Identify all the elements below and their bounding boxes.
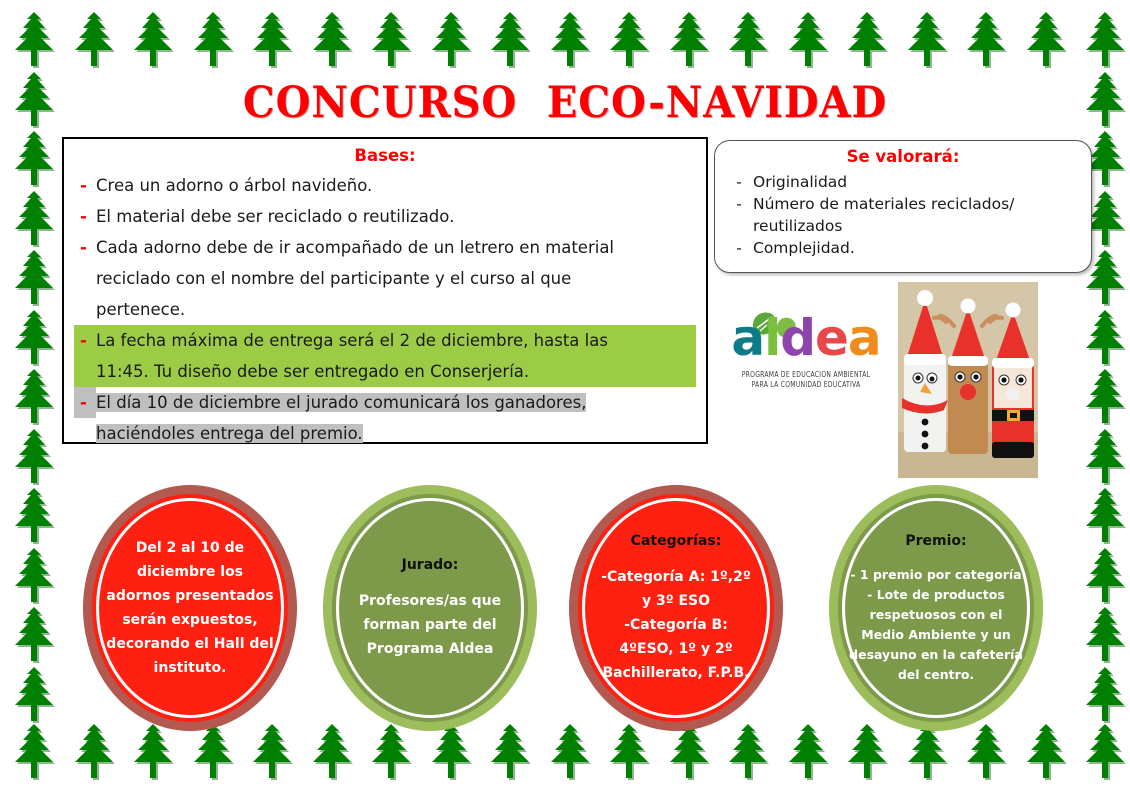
bases-heading: Bases: [74,146,696,165]
oval-content: Premio: - 1 premio por categoría - Lote … [838,531,1034,685]
christmas-tree-icon [8,427,60,487]
christmas-tree-icon [187,10,239,70]
christmas-tree-icon [8,665,60,725]
bullet-dash-icon: - [725,193,753,215]
christmas-tree-icon [1079,665,1130,725]
aldea-letter-e: e [815,309,848,367]
aldea-wordmark: aldea [726,310,886,366]
christmas-tree-icon [1079,486,1130,546]
craft-figures-photo [898,282,1038,478]
christmas-tree-icon [1020,722,1072,782]
oval-exposicion-body: Del 2 al 10 de diciembre los adornos pre… [106,536,275,680]
bases-item-3-text: Cada adorno debe de ir acompañado de un … [96,232,696,325]
bases-item-4-line-2: 11:45. Tu diseño debe ser entregado en C… [96,362,529,381]
christmas-tree-icon [8,248,60,308]
christmas-tree-icon [8,722,60,782]
criteria-item-2-line-2: reutilizados [753,217,842,235]
christmas-tree-icon [484,10,536,70]
christmas-tree-icon [8,308,60,368]
christmas-tree-icon [722,10,774,70]
christmas-tree-icon [901,10,953,70]
oval-categorias-body: -Categoría A: 1º,2º y 3º ESO -Categoría … [592,565,761,685]
oval-content: Del 2 al 10 de diciembre los adornos pre… [106,536,275,680]
bullet-dash-icon: - [725,237,753,259]
christmas-tree-icon [544,10,596,70]
christmas-tree-icon [68,722,120,782]
criteria-item-2-line-1: Número de materiales reciclados/ [753,195,1014,213]
christmas-tree-icon [603,10,655,70]
aldea-subtitle-line-1: PROGRAMA DE EDUCACION AMBIENTAL [734,370,878,380]
criteria-item-3: - Complejidad. [725,237,1081,259]
oval-exposicion: Del 2 al 10 de diciembre los adornos pre… [92,494,288,722]
criteria-item-2-text: Número de materiales reciclados/ reutili… [753,193,1014,237]
christmas-tree-icon [8,546,60,606]
christmas-tree-icon [187,722,239,782]
bullet-dash-icon: - [74,232,96,263]
criteria-item-2: - Número de materiales reciclados/ reuti… [725,193,1081,237]
christmas-tree-icon [246,722,298,782]
bases-item-3: - Cada adorno debe de ir acompañado de u… [74,232,696,325]
bases-item-3-line-1: Cada adorno debe de ir acompañado de un … [96,238,614,257]
christmas-tree-icon [365,722,417,782]
christmas-tree-icon [960,10,1012,70]
oval-premio-body: - 1 premio por categoría - Lote de produ… [838,565,1034,685]
christmas-tree-icon [306,10,358,70]
aldea-subtitle-line-2: PARA LA COMUNIDAD EDUCATIVA [734,380,878,390]
christmas-tree-icon [68,10,120,70]
oval-jurado: Jurado: Profesores/as que forman parte d… [332,494,528,722]
christmas-tree-icon [603,722,655,782]
christmas-tree-icon [127,10,179,70]
christmas-tree-icon [1079,10,1130,70]
christmas-tree-icon [306,722,358,782]
christmas-tree-icon [425,10,477,70]
bullet-dash-icon: - [74,387,96,418]
criteria-heading: Se valorará: [725,147,1081,166]
christmas-tree-icon [8,605,60,665]
christmas-tree-icon [484,722,536,782]
christmas-tree-icon [1020,10,1072,70]
christmas-tree-icon [1079,367,1130,427]
christmas-tree-icon [8,10,60,70]
bullet-dash-icon: - [74,170,96,201]
christmas-tree-icon [960,722,1012,782]
bases-item-4-text: La fecha máxima de entrega será el 2 de … [96,325,696,387]
christmas-tree-icon [782,722,834,782]
oval-premio-heading: Premio: [838,531,1034,551]
christmas-tree-icon [1079,722,1130,782]
criteria-item-3-text: Complejidad. [753,237,855,259]
bases-item-3-line-2: reciclado con el nombre del participante… [96,269,571,288]
bases-panel: Bases: - Crea un adorno o árbol navideño… [62,137,708,444]
aldea-letter-l: l [764,309,780,367]
aldea-logo: aldea PROGRAMA DE EDUCACION AMBIENTAL PA… [726,308,886,418]
oval-jurado-body: Profesores/as que forman parte del Progr… [346,589,515,661]
bases-item-5-text: El día 10 de diciembre el jurado comunic… [96,387,696,449]
christmas-tree-icon [425,722,477,782]
criteria-item-1: - Originalidad [725,171,1081,193]
bases-item-4: - La fecha máxima de entrega será el 2 d… [74,325,696,387]
bases-item-4-line-1: La fecha máxima de entrega será el 2 de … [96,331,608,350]
oval-content: Jurado: Profesores/as que forman parte d… [346,555,515,661]
bases-item-1: - Crea un adorno o árbol navideño. [74,170,696,201]
bases-item-5: - El día 10 de diciembre el jurado comun… [74,387,696,449]
poster-canvas: CONCURSO ECO-NAVIDAD Bases: - Crea un ad… [0,0,1130,794]
christmas-tree-icon [841,10,893,70]
christmas-tree-icon [663,10,715,70]
bases-item-1-text: Crea un adorno o árbol navideño. [96,170,696,201]
page-title: CONCURSO ECO-NAVIDAD [40,78,1091,128]
bases-item-3-line-3: pertenece. [96,300,185,319]
criteria-panel: Se valorará: - Originalidad - Número de … [714,140,1092,273]
christmas-tree-icon [1079,427,1130,487]
christmas-tree-icon [8,129,60,189]
christmas-tree-icon [663,722,715,782]
christmas-tree-icon [841,722,893,782]
bases-item-5-line-2: haciéndoles entrega del premio. [96,424,363,443]
bases-item-5-line-1: El día 10 de diciembre el jurado comunic… [96,393,586,412]
criteria-item-1-text: Originalidad [753,171,847,193]
oval-content: Categorías: -Categoría A: 1º,2º y 3º ESO… [592,531,761,685]
oval-jurado-heading: Jurado: [346,555,515,575]
bullet-dash-icon: - [725,171,753,193]
oval-categorias: Categorías: -Categoría A: 1º,2º y 3º ESO… [578,494,774,722]
christmas-tree-icon [782,10,834,70]
aldea-letter-a1: a [731,309,764,367]
aldea-letter-d: d [780,309,815,367]
christmas-tree-icon [8,486,60,546]
christmas-tree-icon [127,722,179,782]
christmas-tree-icon [1079,605,1130,665]
christmas-tree-icon [365,10,417,70]
christmas-tree-icon [722,722,774,782]
bullet-dash-icon: - [74,325,96,356]
oval-categorias-heading: Categorías: [592,531,761,551]
christmas-tree-icon [8,189,60,249]
bullet-dash-icon: - [74,201,96,232]
christmas-tree-icon [901,722,953,782]
bases-item-2-text: El material debe ser reciclado o reutili… [96,201,696,232]
bases-item-2: - El material debe ser reciclado o reuti… [74,201,696,232]
oval-premio: Premio: - 1 premio por categoría - Lote … [838,494,1034,722]
christmas-tree-icon [246,10,298,70]
christmas-tree-icon [8,367,60,427]
aldea-letter-a2: a [848,309,881,367]
christmas-tree-icon [544,722,596,782]
christmas-tree-icon [1079,546,1130,606]
christmas-tree-icon [1079,308,1130,368]
craft-figures-illustration [898,282,1038,478]
